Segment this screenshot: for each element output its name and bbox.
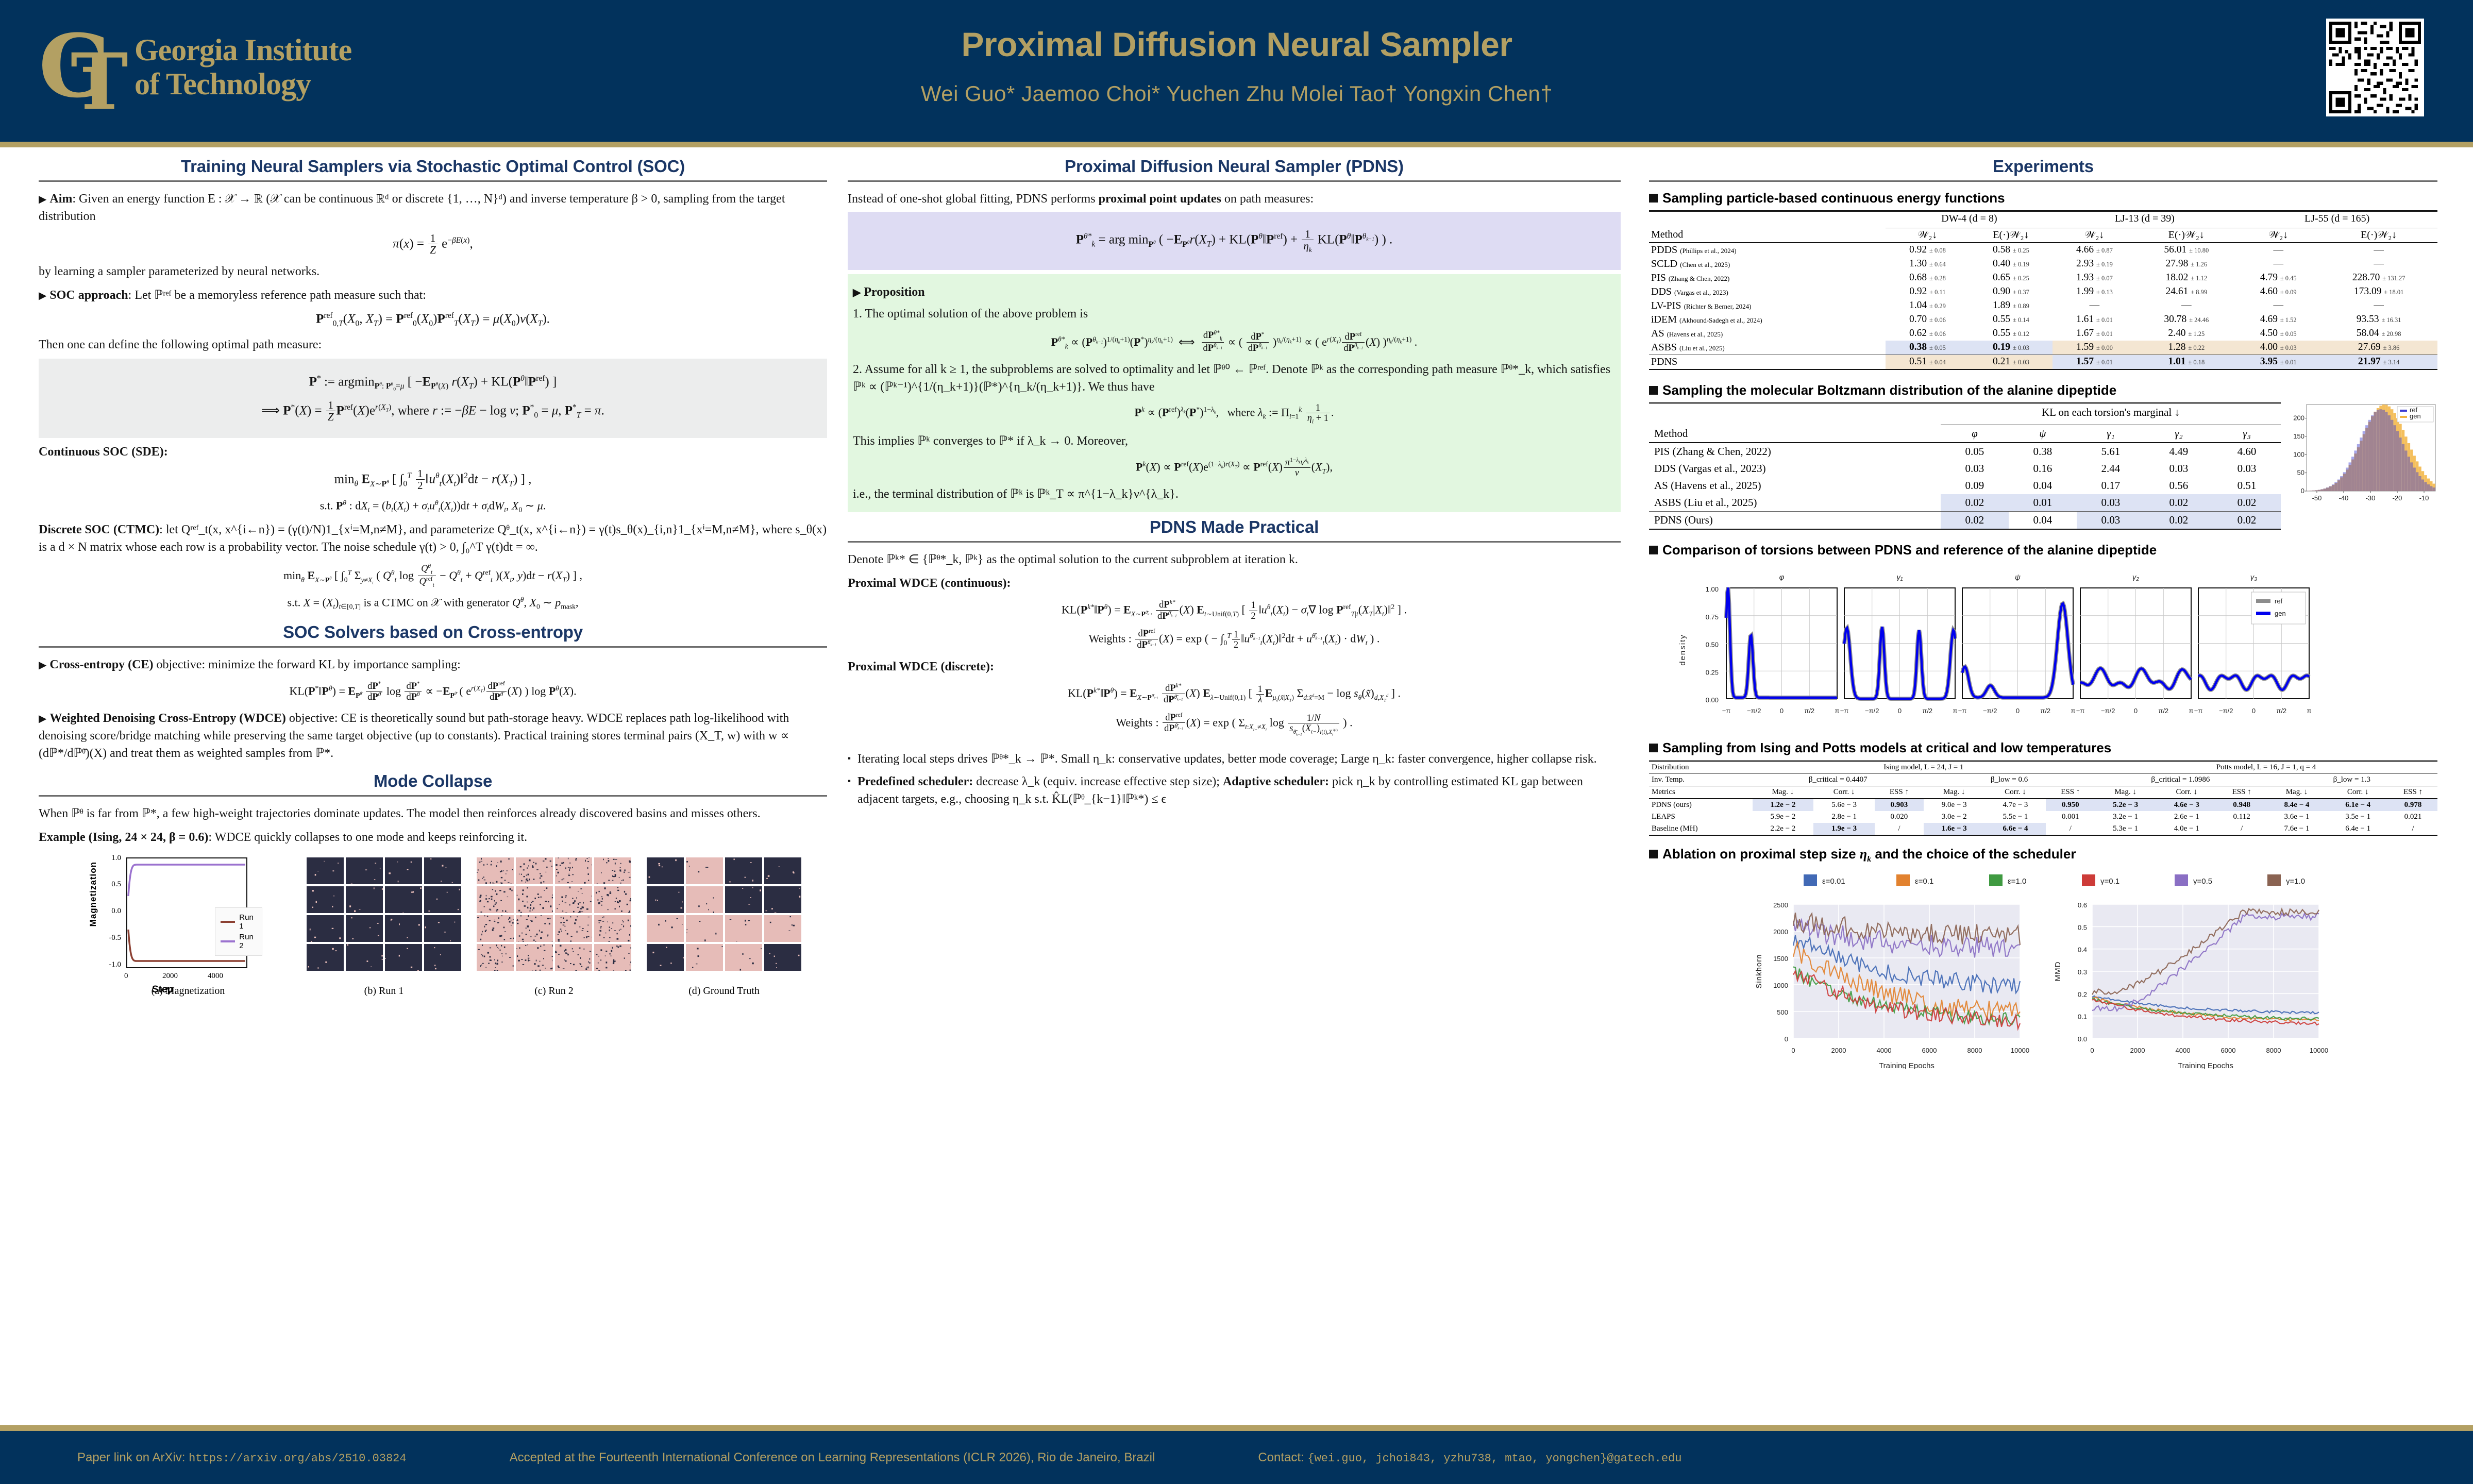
sample-tile — [477, 915, 514, 942]
svg-text:2000: 2000 — [1831, 1047, 1846, 1054]
table-row-distribution: DistributionIsing model, L = 24, J = 1Po… — [1649, 761, 2437, 774]
sample-tile — [346, 944, 383, 971]
optimal-path-measure-box: P* := argminPθ: Pθ0=μ [ −EPθ(X) r(XT) + … — [39, 359, 827, 439]
ce-label: Cross-entropy (CE) — [49, 658, 153, 671]
svg-text:gen: gen — [2275, 610, 2286, 617]
bullet-square-icon — [1649, 850, 1658, 858]
svg-text:10000: 10000 — [2011, 1047, 2029, 1054]
cell-method: PDNS — [1649, 355, 1886, 369]
svg-text:−π/2: −π/2 — [1747, 707, 1761, 715]
sample-tile — [477, 857, 514, 884]
poster-footer: Paper link on ArXiv: https://arxiv.org/a… — [0, 1431, 2473, 1484]
table-row: Baseline (MH)2.2e − 21.9e − 3/1.6e − 36.… — [1649, 823, 2437, 835]
cell-value: 4.6e − 3 — [2156, 799, 2217, 811]
cell-method: DDS (Vargas et al., 2023) — [1649, 460, 1941, 477]
column-middle: Proximal Diffusion Neural Sampler (PDNS)… — [848, 157, 1621, 808]
cell-method: PDDS (Phillips et al., 2024) — [1649, 243, 1886, 257]
col-header: γ₁ — [2077, 425, 2145, 443]
cell-value: 1.6e − 3 — [1924, 823, 1985, 835]
cell-value: 9.0e − 3 — [1924, 799, 1985, 811]
cell-value: 5.9e − 2 — [1753, 811, 1814, 823]
cell-value: 0.55 ± 0.14 — [1969, 313, 2053, 327]
svg-text:0.3: 0.3 — [2078, 968, 2087, 976]
cell-value: 2.8e − 1 — [1813, 811, 1875, 823]
col-header-metric: 𝒲₂↓ — [2236, 228, 2320, 243]
svg-text:ε=0.01: ε=0.01 — [1822, 877, 1845, 886]
col-header: γ₂ — [2145, 425, 2213, 443]
svg-text:−π/2: −π/2 — [2101, 707, 2115, 715]
svg-text:−π: −π — [1722, 707, 1731, 715]
group-header: LJ-55 (d = 165) — [2236, 211, 2437, 226]
magnetization-legend: Run 1 Run 2 — [215, 907, 262, 956]
svg-text:50: 50 — [2297, 468, 2304, 476]
footer-divider — [0, 1425, 2473, 1431]
col-header: Corr. ↓ — [1985, 786, 2046, 799]
cell-value: 0.03 — [2077, 494, 2145, 512]
cell-value: 0.58 ± 0.25 — [1969, 243, 2053, 257]
cell-value: 1.04 ± 0.29 — [1886, 299, 1969, 313]
cell-value: β_critical = 1.0986 — [2095, 774, 2266, 786]
equation-reference-path: Pref0,T(X0, XT) = Pref0(X0)PrefT(XT) = μ… — [39, 311, 827, 328]
table-row: PDNS 0.51 ± 0.040.21 ± 0.031.57 ± 0.011.… — [1649, 355, 2437, 369]
aim-text: : Given an energy function E : 𝒳 → ℝ (𝒳 … — [39, 192, 785, 223]
cell-value: 1.28 ± 0.22 — [2136, 341, 2236, 355]
experiment-heading-2: Sampling the molecular Boltzmann distrib… — [1649, 382, 2437, 398]
table-row: LEAPS5.9e − 22.8e − 10.0203.0e − 25.5e −… — [1649, 811, 2437, 823]
cell-value: β_low = 0.6 — [1924, 774, 2095, 786]
cell-value: 2.6e − 1 — [2156, 811, 2217, 823]
svg-text:π/2: π/2 — [2040, 707, 2050, 715]
cell-value: 0.948 — [2217, 799, 2266, 811]
cell-value: 1.2e − 2 — [1753, 799, 1814, 811]
predefined-scheduler-label: Predefined scheduler: — [857, 775, 973, 788]
divider — [1649, 180, 2437, 182]
cell-value: Potts model, L = 16, J = 1, q = 4 — [2095, 761, 2437, 774]
svg-text:−π: −π — [1958, 707, 1967, 715]
proposition-2-text: 2. Assume for all k ≥ 1, the subproblems… — [853, 361, 1616, 396]
discrete-soc-label: Discrete SOC (CTMC) — [39, 523, 159, 536]
aim-paragraph: ▶ Aim: Given an energy function E : 𝒳 → … — [39, 190, 827, 225]
cell-value: 0.03 — [2077, 512, 2145, 530]
sample-tile — [307, 915, 344, 942]
table-row: SCLD (Chen et al., 2025)1.30 ± 0.640.40 … — [1649, 257, 2437, 271]
cell-value: — — [2236, 299, 2320, 313]
cell-value: 0.16 — [2009, 460, 2077, 477]
legend-item: Run 1 — [221, 913, 257, 931]
cell-value: 24.61 ± 8.99 — [2136, 285, 2236, 299]
cell-method: AS (Havens et al., 2025) — [1649, 327, 1886, 341]
svg-text:γ=0.5: γ=0.5 — [2193, 877, 2212, 886]
title-block: Proximal Diffusion Neural Sampler Wei Gu… — [773, 25, 1701, 106]
table-row: iDEM (Akhound-Sadegh et al., 2024)0.70 ±… — [1649, 313, 2437, 327]
qr-code-icon[interactable] — [2326, 19, 2424, 116]
table-row: LV-PIS (Richter & Berner, 2024)1.04 ± 0.… — [1649, 299, 2437, 313]
cell-label: Inv. Temp. — [1649, 774, 1753, 786]
sample-tile — [725, 886, 762, 913]
svg-text:500: 500 — [1777, 1008, 1788, 1016]
svg-text:Training Epochs: Training Epochs — [2178, 1061, 2233, 1069]
cell-value: 0.09 — [1941, 477, 2009, 494]
column-left: Training Neural Samplers via Stochastic … — [39, 157, 827, 1007]
bullet-square-icon — [1649, 546, 1658, 554]
table-row: DDS (Vargas et al., 2023)0.92 ± 0.110.90… — [1649, 285, 2437, 299]
denote-text: Denote ℙᵏ* ∈ {ℙᶿ*_k, ℙᵏ} as the optimal … — [848, 551, 1621, 568]
svg-text:γ₂: γ₂ — [2132, 573, 2140, 582]
cell-value: 18.02 ± 1.12 — [2136, 271, 2236, 285]
proposition-box: ▶ Proposition 1. The optimal solution of… — [848, 274, 1621, 512]
svg-text:ε=0.1: ε=0.1 — [1915, 877, 1933, 886]
author-list: Wei Guo* Jaemoo Choi* Yuchen Zhu Molei T… — [773, 81, 1701, 106]
bullet-square-icon — [1649, 194, 1658, 203]
cell-value: 5.61 — [2077, 443, 2145, 460]
svg-text:γ₃: γ₃ — [2250, 573, 2258, 582]
equation-weights-continuous: Weights : dPrefdPθ̄k−1(X) = exp ( − ∫0T1… — [848, 628, 1621, 650]
svg-text:0.50: 0.50 — [1706, 641, 1719, 649]
experiment-heading-1: Sampling particle-based continuous energ… — [1649, 190, 2437, 206]
cell-value: 0.950 — [2046, 799, 2095, 811]
soc-label: SOC approach — [49, 289, 128, 302]
cell-value: β_critical = 0.4407 — [1753, 774, 1924, 786]
cell-method: ASBS (Liu et al., 2025) — [1649, 494, 1941, 512]
sample-tile — [385, 886, 422, 913]
cell-value: 0.02 — [2145, 512, 2213, 530]
col-header-metric: E(·)𝒲₂↓ — [2136, 228, 2236, 243]
gt-monogram-icon: GT — [39, 28, 121, 106]
cell-value: 4.00 ± 0.03 — [2236, 341, 2320, 355]
svg-text:ref: ref — [2275, 597, 2283, 605]
svg-text:π: π — [1953, 707, 1958, 715]
table-header-row: MetricsMag. ↓Corr. ↓ESS ↑Mag. ↓Corr. ↓ES… — [1649, 786, 2437, 799]
cell-value: 0.978 — [2388, 799, 2437, 811]
sample-tile — [686, 944, 723, 971]
equation-discrete-soc-2: s.t. X = (Xt)t∈[0,T] is a CTMC on 𝒳 with… — [39, 596, 827, 611]
pdns-intro: Instead of one-shot global fitting, PDNS… — [848, 190, 1621, 208]
proposition-2b-text: This implies ℙᵏ converges to ℙ* if λ_k →… — [853, 432, 1616, 450]
svg-text:6000: 6000 — [1922, 1047, 1937, 1054]
sample-tile — [385, 915, 422, 942]
cell-value: — — [2053, 299, 2136, 313]
y-tick: 0.5 — [90, 880, 121, 889]
cell-value: 0.70 ± 0.06 — [1886, 313, 1969, 327]
sample-tile — [424, 944, 461, 971]
table-row-temperature: Inv. Temp.β_critical = 0.4407β_low = 0.6… — [1649, 774, 2437, 786]
cell-value: 0.21 ± 0.03 — [1969, 355, 2053, 369]
super-header: KL on each torsion's marginal ↓ — [1941, 403, 2281, 421]
sample-tile — [594, 915, 631, 942]
table-row: PIS (Zhang & Chen, 2022)0.050.385.614.49… — [1649, 443, 2281, 460]
equation-optimal-path-2: ⟹ P*(X) = 1ZPref(X)er(XT), where r := −β… — [44, 399, 822, 423]
col-header: γ₃ — [2213, 425, 2281, 443]
cell-label: Distribution — [1649, 761, 1753, 774]
legend-item: Run 2 — [221, 933, 257, 950]
cell-value: 4.69 ± 1.52 — [2236, 313, 2320, 327]
section-title-experiments: Experiments — [1649, 157, 2437, 176]
cell-value: 0.04 — [2009, 512, 2077, 530]
cell-value: — — [2236, 257, 2320, 271]
svg-text:π/2: π/2 — [1804, 707, 1814, 715]
cell-value: 0.03 — [2145, 460, 2213, 477]
cell-method: LV-PIS (Richter & Berner, 2024) — [1649, 299, 1886, 313]
torsion-comparison-figure: density1.000.750.500.250.00φ−π−π/20π/2πγ… — [1649, 562, 2437, 735]
figure-caption-b: (b) Run 1 — [307, 985, 461, 997]
svg-text:−π: −π — [2194, 707, 2203, 715]
after-pi-text: by learning a sampler parameterized by n… — [39, 263, 827, 280]
col-header-metrics: Metrics — [1649, 786, 1753, 799]
bullet-square-icon — [1649, 386, 1658, 395]
cell-value: 0.02 — [2213, 494, 2281, 512]
sample-tile — [385, 857, 422, 884]
cell-value: 4.7e − 3 — [1985, 799, 2046, 811]
figure-caption-a: (a) Magnetization — [116, 985, 260, 997]
arxiv-link[interactable]: Paper link on ArXiv: https://arxiv.org/a… — [77, 1451, 407, 1465]
sample-tile — [424, 857, 461, 884]
cell-value: 58.04 ± 20.98 — [2320, 327, 2437, 341]
svg-text:π: π — [2071, 707, 2076, 715]
svg-text:1000: 1000 — [1773, 982, 1788, 989]
cell-value: 0.04 — [2009, 477, 2077, 494]
col-header: Mag. ↓ — [1753, 786, 1814, 799]
table-row: DDS (Vargas et al., 2023)0.030.162.440.0… — [1649, 460, 2281, 477]
sample-tile — [647, 915, 684, 942]
cell-method: ASBS (Liu et al., 2025) — [1649, 341, 1886, 355]
cell-value: 5.5e − 1 — [1985, 811, 2046, 823]
sample-tile — [555, 857, 592, 884]
proximal-wdce-discrete-label: Proximal WDCE (discrete): — [848, 658, 1621, 676]
continuous-soc-label: Continuous SOC (SDE): — [39, 443, 827, 461]
cell-value: 1.93 ± 0.07 — [2053, 271, 2136, 285]
col-header-metric: 𝒲₂↓ — [2053, 228, 2136, 243]
cell-value: / — [2046, 823, 2095, 835]
sample-tile — [307, 944, 344, 971]
svg-text:π: π — [1835, 707, 1840, 715]
table-row: AS (Havens et al., 2025)0.090.040.170.56… — [1649, 477, 2281, 494]
bullet-item: ▪ Predefined scheduler: decrease λ_k (eq… — [848, 773, 1621, 808]
cell-value: 1.99 ± 0.13 — [2053, 285, 2136, 299]
col-header: Mag. ↓ — [1924, 786, 1985, 799]
cell-value: 4.0e − 1 — [2156, 823, 2217, 835]
cell-value: 0.65 ± 0.25 — [1969, 271, 2053, 285]
bullet-square-icon — [1649, 744, 1658, 752]
cell-value: 0.02 — [2213, 512, 2281, 530]
equation-discrete-soc-1: minθ EX∼Pθ [ ∫0T Σy≠Xt ( Qθt log QθtQref… — [39, 563, 827, 588]
mode-collapse-text: When ℙᶿ is far from ℙ*, a few high-weigh… — [39, 805, 827, 822]
cell-value: 0.05 — [1941, 443, 2009, 460]
svg-text:0: 0 — [1785, 1035, 1788, 1043]
svg-text:γ₁: γ₁ — [1896, 573, 1903, 582]
page-title: Proximal Diffusion Neural Sampler — [773, 25, 1701, 64]
cell-value: 5.2e − 3 — [2095, 799, 2156, 811]
cell-value: 0.90 ± 0.37 — [1969, 285, 2053, 299]
svg-text:π: π — [2307, 707, 2312, 715]
cell-value: 3.5e − 1 — [2327, 811, 2388, 823]
sample-tile — [516, 886, 553, 913]
table-row: PDDS (Phillips et al., 2024)0.92 ± 0.080… — [1649, 243, 2437, 257]
cell-value: 0.92 ± 0.08 — [1886, 243, 1969, 257]
sample-tile — [307, 886, 344, 913]
ablation-figure: ε=0.01ε=0.1ε=1.0γ=0.1γ=0.5γ=1.0050010001… — [1649, 868, 2437, 1072]
cell-value: 4.66 ± 0.87 — [2053, 243, 2136, 257]
mode-collapse-example-label: Example (Ising, 24 × 24, β = 0.6) — [39, 831, 208, 844]
proposition-1-text: 1. The optimal solution of the above pro… — [853, 305, 1616, 323]
cell-value: 4.49 — [2145, 443, 2213, 460]
cell-value: 0.51 ± 0.04 — [1886, 355, 1969, 369]
y-tick: -0.5 — [90, 934, 121, 942]
section-title-mode-collapse: Mode Collapse — [39, 771, 827, 791]
bullet-square-icon: ▪ — [848, 750, 851, 768]
equation-optimal-path-1: P* := argminPθ: Pθ0=μ [ −EPθ(X) r(XT) + … — [44, 374, 822, 392]
svg-text:0.75: 0.75 — [1706, 613, 1719, 621]
cell-value: 6.6e − 4 — [1985, 823, 2046, 835]
torsion-histogram-inset: 200150100500-50-40-30-20-10 ref gen — [2288, 402, 2437, 508]
svg-text:2500: 2500 — [1773, 901, 1788, 909]
cell-method: Baseline (MH) — [1649, 823, 1753, 835]
sample-tile — [725, 857, 762, 884]
header-divider — [0, 142, 2473, 147]
svg-text:−π: −π — [1840, 707, 1849, 715]
adaptive-scheduler-label: Adaptive scheduler: — [1223, 775, 1329, 788]
col-header: Mag. ↓ — [2095, 786, 2156, 799]
equation-proximal-update: Pθ*k = arg minPθ ( −EPθr(XT) + KL(Pθ‖Pre… — [853, 228, 1616, 254]
sample-tile — [725, 944, 762, 971]
cell-method: AS (Havens et al., 2025) — [1649, 477, 1941, 494]
svg-text:Sinkhorn: Sinkhorn — [1755, 954, 1763, 989]
svg-text:0.6: 0.6 — [2078, 901, 2087, 909]
figure-caption-d: (d) Ground Truth — [636, 985, 812, 997]
col-header-metric: E(·)𝒲₂↓ — [1969, 228, 2053, 243]
svg-text:0: 0 — [2134, 707, 2138, 715]
cell-value: 4.60 ± 0.09 — [2236, 285, 2320, 299]
svg-text:0.5: 0.5 — [2078, 924, 2087, 932]
table-row: PDNS (Ours)0.020.040.030.020.02 — [1649, 512, 2281, 530]
cell-method: PIS (Zhang & Chen, 2022) — [1649, 271, 1886, 285]
cell-value: 2.93 ± 0.19 — [2053, 257, 2136, 271]
divider — [848, 541, 1621, 543]
svg-text:−π/2: −π/2 — [1865, 707, 1879, 715]
mode-collapse-example: Example (Ising, 24 × 24, β = 0.6): WDCE … — [39, 829, 827, 846]
cell-value: — — [2320, 299, 2437, 313]
cell-value: 0.92 ± 0.11 — [1886, 285, 1969, 299]
sample-tile — [647, 944, 684, 971]
col-header-method: Method — [1649, 228, 1886, 243]
sample-tile — [647, 886, 684, 913]
svg-text:−π: −π — [2076, 707, 2085, 715]
cell-value: β_low = 1.3 — [2266, 774, 2437, 786]
cell-value: 3.2e − 1 — [2095, 811, 2156, 823]
cell-value: 173.09 ± 18.01 — [2320, 285, 2437, 299]
equation-proposition-2a: Pk ∝ (Pref)λk(P*)1−λk, where λk := Πi=1k… — [853, 403, 1616, 425]
sample-tile — [764, 944, 801, 971]
bullet-2-text: Predefined scheduler: decrease λ_k (equi… — [857, 773, 1621, 808]
proximal-wdce-continuous-label: Proximal WDCE (continuous): — [848, 575, 1621, 592]
table-group-header-row: DW-4 (d = 8)LJ-13 (d = 39)LJ-55 (d = 165… — [1649, 211, 2437, 226]
cell-method: DDS (Vargas et al., 2023) — [1649, 285, 1886, 299]
experiment-heading-3: Comparison of torsions between PDNS and … — [1649, 542, 2437, 558]
cell-method: PDNS (ours) — [1649, 799, 1753, 811]
contact-info: Contact: {wei.guo, jchoi843, yzhu738, mt… — [1258, 1451, 1681, 1465]
cell-value: 0.903 — [1875, 799, 1924, 811]
cell-value: 5.3e − 1 — [2095, 823, 2156, 835]
poster-header: GT Georgia Institute of Technology Proxi… — [0, 0, 2473, 142]
svg-text:4000: 4000 — [1877, 1047, 1892, 1054]
svg-text:−π/2: −π/2 — [1983, 707, 1997, 715]
sample-tile — [555, 915, 592, 942]
cell-value: 93.53 ± 16.31 — [2320, 313, 2437, 327]
cell-value: 0.112 — [2217, 811, 2266, 823]
sample-tile — [516, 857, 553, 884]
x-tick: 0 — [124, 972, 128, 981]
cell-value: 7.6e − 1 — [2266, 823, 2328, 835]
svg-text:4000: 4000 — [2176, 1047, 2191, 1054]
magnetization-axis-label: Magnetization — [88, 862, 98, 926]
results-table-particle-energy: DW-4 (d = 8)LJ-13 (d = 39)LJ-55 (d = 165… — [1649, 210, 2437, 371]
table-row: AS (Havens et al., 2025)0.62 ± 0.060.55 … — [1649, 327, 2437, 341]
cell-value: 5.6e − 3 — [1813, 799, 1875, 811]
equation-cross-entropy: KL(P*‖Pθ) = EPθ̄ dP*dPθ̄ log dP*dPθ ∝ −E… — [39, 681, 827, 702]
sample-tile — [346, 857, 383, 884]
sample-tile — [555, 944, 592, 971]
cell-value: — — [2320, 257, 2437, 271]
divider — [848, 180, 1621, 182]
svg-text:-10: -10 — [2419, 494, 2429, 502]
equation-proposition-2c: Pk(X) ∝ Pref(X)e(1−λk)r(XT) ∝ Pref(X)π1−… — [853, 457, 1616, 478]
section-title-ce: SOC Solvers based on Cross-entropy — [39, 622, 827, 642]
sample-tile — [346, 915, 383, 942]
svg-text:8000: 8000 — [2266, 1047, 2281, 1054]
col-header-metric: 𝒲₂↓ — [1886, 228, 1969, 243]
col-header: ESS ↑ — [2388, 786, 2437, 799]
cell-value: 0.55 ± 0.12 — [1969, 327, 2053, 341]
svg-text:0.4: 0.4 — [2078, 946, 2087, 954]
svg-text:0.0: 0.0 — [2078, 1035, 2087, 1043]
cell-value: 0.40 ± 0.19 — [1969, 257, 2053, 271]
bullet-item: ▪ Iterating local steps drives ℙᶿ*_k → ℙ… — [848, 750, 1621, 768]
svg-text:-40: -40 — [2339, 494, 2349, 502]
cell-value: 56.01 ± 10.80 — [2136, 243, 2236, 257]
group-header: LJ-13 (d = 39) — [2053, 211, 2236, 226]
col-header: ESS ↑ — [1875, 786, 1924, 799]
sample-tile — [686, 886, 723, 913]
svg-text:0: 0 — [2301, 487, 2304, 495]
svg-text:1.00: 1.00 — [1706, 585, 1719, 593]
svg-text:0.1: 0.1 — [2078, 1013, 2087, 1021]
magnetization-plot: Run 1 Run 2 — [126, 857, 247, 968]
cell-value: 0.51 — [2213, 477, 2281, 494]
cell-method: PIS (Zhang & Chen, 2022) — [1649, 443, 1941, 460]
bullet-square-icon: ▪ — [848, 773, 851, 808]
table-row: ASBS (Liu et al., 2025)0.020.010.030.020… — [1649, 494, 2281, 512]
table-row: PIS (Zhang & Chen, 2022)0.68 ± 0.280.65 … — [1649, 271, 2437, 285]
cell-value: 0.02 — [2145, 494, 2213, 512]
divider — [39, 180, 827, 182]
experiment-heading-5: Ablation on proximal step size ηk and th… — [1649, 846, 2437, 864]
svg-text:-30: -30 — [2366, 494, 2376, 502]
svg-text:gen: gen — [2410, 412, 2421, 420]
svg-text:π/2: π/2 — [1922, 707, 1932, 715]
ce-text: objective: minimize the forward KL by im… — [154, 658, 461, 671]
cell-value: 2.40 ± 1.25 — [2136, 327, 2236, 341]
sample-tile — [516, 915, 553, 942]
cell-value: 0.01 — [2009, 494, 2077, 512]
x-tick: 4000 — [208, 972, 223, 981]
cell-value: / — [1875, 823, 1924, 835]
svg-text:0: 0 — [2016, 707, 2020, 715]
cell-value: 3.0e − 2 — [1924, 811, 1985, 823]
equation-proximal-wdce-continuous: KL(Pk*‖Pθ) = EX∼Pθ̄k−1 dPk*dPθ̄k−1(X) Et… — [848, 599, 1621, 621]
equation-continuous-soc-1: minθ EX∼Pθ [ ∫0T 12‖uθt(Xt)‖2dt − r(XT) … — [39, 468, 827, 491]
divider — [39, 795, 827, 797]
cell-value: 27.69 ± 3.86 — [2320, 341, 2437, 355]
cell-value: 0.001 — [2046, 811, 2095, 823]
